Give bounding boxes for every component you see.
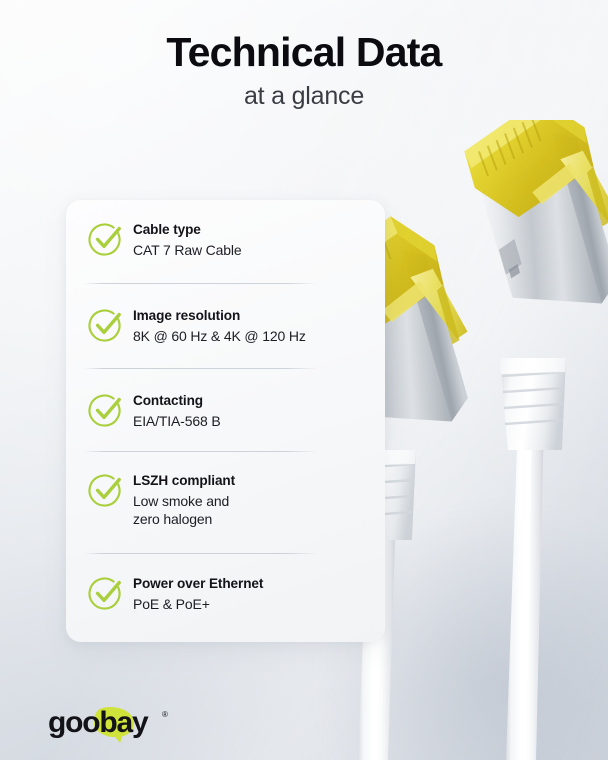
- spec-text: Contacting EIA/TIA-568 B: [133, 392, 221, 430]
- spec-list: Cable type CAT 7 Raw Cable Image resolut…: [66, 200, 385, 642]
- logo-trademark-icon: ®: [162, 710, 168, 719]
- spec-text: Image resolution 8K @ 60 Hz & 4K @ 120 H…: [133, 307, 306, 345]
- header: Technical Data at a glance: [0, 0, 608, 111]
- spec-card: Cable type CAT 7 Raw Cable Image resolut…: [66, 200, 385, 642]
- spec-value: 8K @ 60 Hz & 4K @ 120 Hz: [133, 327, 306, 345]
- spec-text: LSZH compliant Low smoke and zero haloge…: [133, 472, 235, 529]
- check-circle-icon: [88, 472, 124, 508]
- spec-row-contacting: Contacting EIA/TIA-568 B: [66, 392, 221, 430]
- spec-value: PoE & PoE+: [133, 595, 263, 613]
- spec-heading: Power over Ethernet: [133, 576, 263, 593]
- spec-heading: Contacting: [133, 393, 221, 410]
- rj45-connector-back: [456, 120, 608, 328]
- spec-divider: [84, 283, 318, 284]
- page-subtitle: at a glance: [0, 74, 608, 111]
- spec-row-lszh-compliant: LSZH compliant Low smoke and zero haloge…: [66, 472, 235, 529]
- spec-divider: [84, 368, 318, 369]
- spec-value: CAT 7 Raw Cable: [133, 241, 242, 259]
- cable-back: [500, 358, 566, 760]
- check-circle-icon: [88, 307, 124, 343]
- spec-value: Low smoke and: [133, 492, 235, 510]
- infographic-canvas: Technical Data at a glance Cable type CA…: [0, 0, 608, 760]
- check-circle-icon: [88, 575, 124, 611]
- page-title: Technical Data: [0, 0, 608, 74]
- spec-text: Power over Ethernet PoE & PoE+: [133, 575, 263, 613]
- spec-text: Cable type CAT 7 Raw Cable: [133, 221, 242, 259]
- spec-value-line2: zero halogen: [133, 510, 235, 528]
- logo-wordmark: goobay: [48, 706, 149, 739]
- spec-heading: LSZH compliant: [133, 473, 235, 490]
- spec-row-cable-type: Cable type CAT 7 Raw Cable: [66, 221, 242, 259]
- spec-row-power-over-ethernet: Power over Ethernet PoE & PoE+: [66, 575, 263, 613]
- spec-divider: [84, 553, 318, 554]
- spec-value: EIA/TIA-568 B: [133, 412, 221, 430]
- goobay-logo: goobay ®: [48, 703, 178, 743]
- check-circle-icon: [88, 221, 124, 257]
- spec-heading: Cable type: [133, 222, 242, 239]
- spec-row-image-resolution: Image resolution 8K @ 60 Hz & 4K @ 120 H…: [66, 307, 306, 345]
- check-circle-icon: [88, 392, 124, 428]
- spec-heading: Image resolution: [133, 308, 306, 325]
- spec-divider: [84, 451, 318, 452]
